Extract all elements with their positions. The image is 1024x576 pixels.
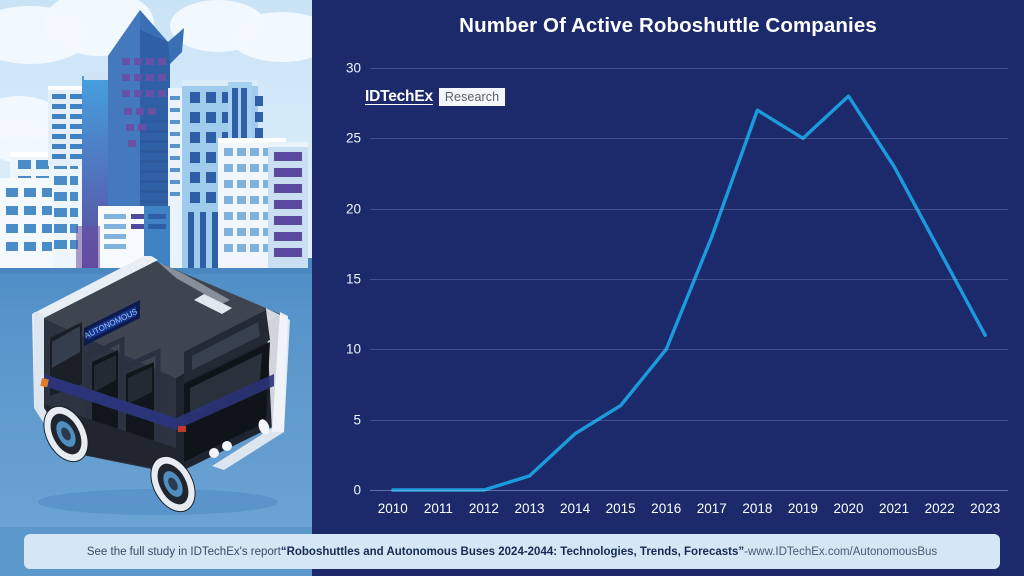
footer-prefix: See the full study in IDTechEx's report bbox=[87, 546, 281, 558]
gridline-y-25 bbox=[370, 138, 1008, 139]
gridline-y-30 bbox=[370, 68, 1008, 69]
x-axis-tick-label: 2010 bbox=[378, 501, 408, 516]
footer-report-title: “Roboshuttles and Autonomous Buses 2024-… bbox=[281, 546, 744, 558]
x-axis-tick-label: 2015 bbox=[606, 501, 636, 516]
x-axis-tick-label: 2011 bbox=[424, 501, 453, 516]
autonomous-shuttle-illustration: AUTONOMOUS bbox=[8, 256, 304, 518]
gridline-y-10 bbox=[370, 349, 1008, 350]
chart-panel: Number Of Active Roboshuttle Companies I… bbox=[312, 0, 1024, 527]
x-axis-tick-label: 2016 bbox=[651, 501, 681, 516]
x-axis-tick-label: 2023 bbox=[970, 501, 1000, 516]
line-chart-plot-area: 0510152025302010201120122013201420152016… bbox=[370, 68, 1008, 490]
y-axis-tick-label: 25 bbox=[346, 131, 361, 146]
x-axis-tick-label: 2012 bbox=[469, 501, 499, 516]
gridline-y-20 bbox=[370, 209, 1008, 210]
y-axis-tick-label: 30 bbox=[346, 61, 361, 76]
footer-url[interactable]: www.IDTechEx.com/AutonomousBus bbox=[748, 546, 937, 558]
report-callout[interactable]: See the full study in IDTechEx's report … bbox=[24, 534, 1000, 569]
x-axis-tick-label: 2013 bbox=[514, 501, 544, 516]
x-axis-tick-label: 2022 bbox=[925, 501, 955, 516]
skyline-buildings bbox=[0, 0, 312, 268]
y-axis-tick-label: 5 bbox=[353, 412, 361, 427]
y-axis-tick-label: 20 bbox=[346, 201, 361, 216]
gridline-y-5 bbox=[370, 420, 1008, 421]
footer-strip: See the full study in IDTechEx's report … bbox=[0, 527, 1024, 576]
x-axis-tick-label: 2018 bbox=[742, 501, 772, 516]
x-axis-tick-label: 2020 bbox=[833, 501, 863, 516]
city-skyline-illustration: AUTONOMOUS bbox=[0, 0, 312, 527]
x-axis-tick-label: 2014 bbox=[560, 501, 590, 516]
y-axis-tick-label: 15 bbox=[346, 272, 361, 287]
x-axis-tick-label: 2019 bbox=[788, 501, 818, 516]
gridline-y-15 bbox=[370, 279, 1008, 280]
x-axis-tick-label: 2021 bbox=[879, 501, 909, 516]
chart-title: Number Of Active Roboshuttle Companies bbox=[312, 14, 1024, 38]
x-axis-tick-label: 2017 bbox=[697, 501, 727, 516]
infographic-root: AUTONOMOUS bbox=[0, 0, 1024, 576]
gridline-y-0 bbox=[370, 490, 1008, 491]
y-axis-tick-label: 0 bbox=[353, 483, 361, 498]
y-axis-tick-label: 10 bbox=[346, 342, 361, 357]
